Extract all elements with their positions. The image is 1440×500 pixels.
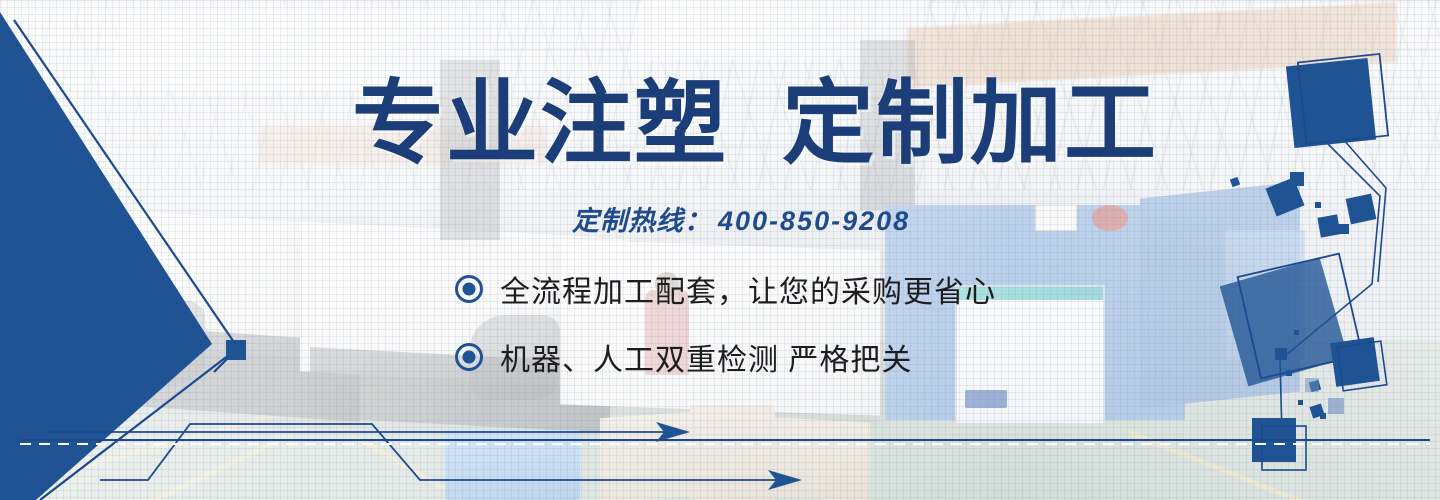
feature-text: 全流程加工配套，让您的采购更省心 — [500, 267, 996, 311]
target-dot-icon — [455, 343, 483, 371]
feature-text: 机器、人工双重检测 严格把关 — [500, 335, 912, 379]
list-item: 全流程加工配套，让您的采购更省心 — [455, 266, 996, 312]
hotline-number: 400-850-9208 — [712, 206, 910, 236]
target-dot-icon — [455, 275, 483, 303]
promo-banner: 专业注塑定制加工 定制热线：400-850-9208 全流程加工配套，让您的采购… — [0, 0, 1440, 500]
list-item: 机器、人工双重检测 严格把关 — [455, 334, 996, 380]
hotline-label: 定制热线： — [572, 206, 712, 236]
headline-part-2: 定制加工 — [782, 73, 1158, 175]
page-title: 专业注塑定制加工 — [352, 78, 1158, 170]
hotline: 定制热线：400-850-9208 — [572, 199, 910, 238]
headline-part-1: 专业注塑 — [352, 73, 728, 175]
feature-list: 全流程加工配套，让您的采购更省心 机器、人工双重检测 严格把关 — [455, 266, 996, 402]
